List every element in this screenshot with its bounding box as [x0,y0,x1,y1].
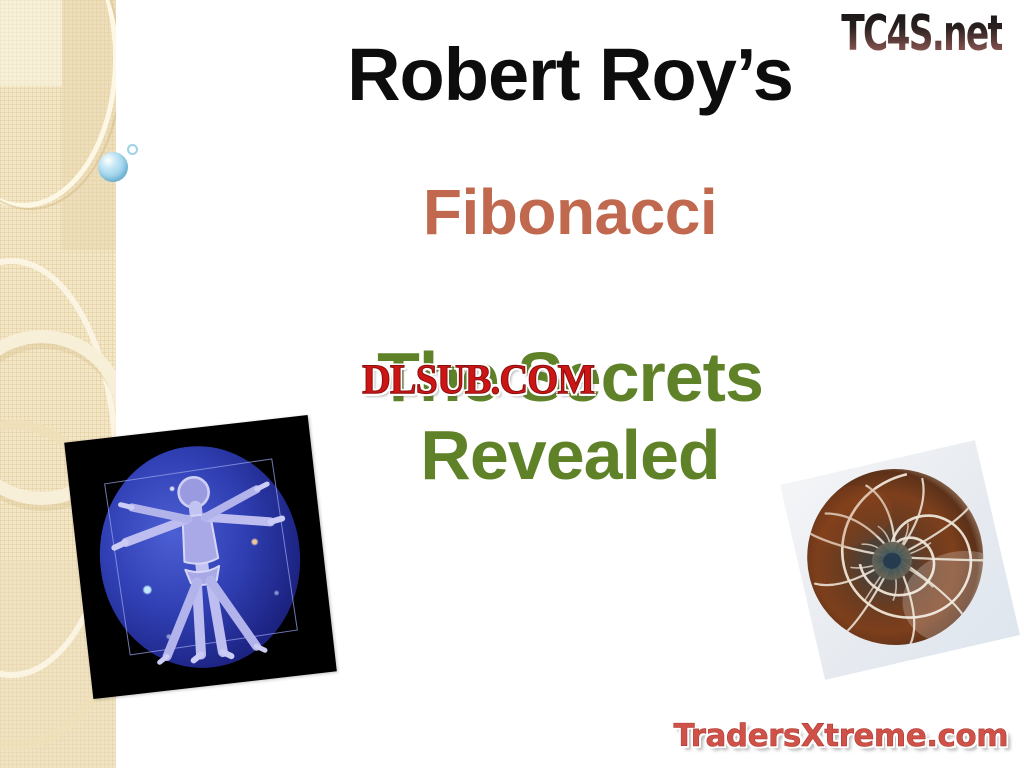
sidebar-ring-top-icon [0,0,116,208]
sidebar-tint-block-top-left [0,0,62,86]
vitruvian-figure-icon [97,446,305,674]
slide-subtitle: Fibonacci [116,180,1024,244]
vitruvian-man-image [64,415,337,699]
sidebar-ring-top-inner-icon [0,0,116,210]
brand-logo-tradersxtreme: TradersXtreme.com [673,718,1008,754]
watermark-dlsub: DLSUB.COM [362,355,594,404]
sidebar-tint-block-top-right [62,0,116,250]
brand-logo-tc4s: TC4S.net [841,6,1002,62]
presentation-slide: Robert Roy’s Fibonacci The Secrets Revea… [0,0,1024,768]
